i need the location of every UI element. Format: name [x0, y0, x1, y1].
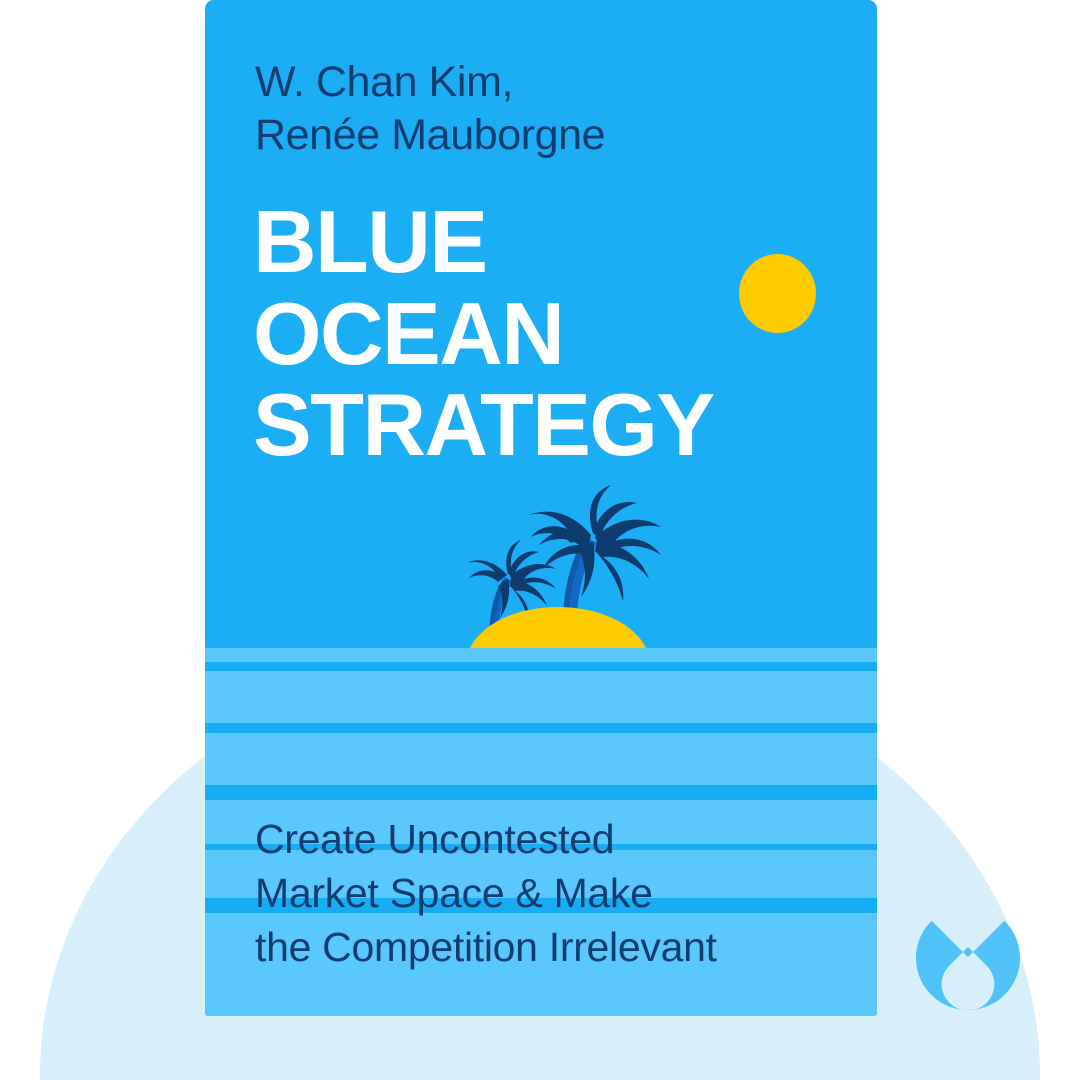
water-stripe [205, 662, 877, 671]
water-stripe [205, 785, 877, 800]
book-card[interactable]: W. Chan Kim, Renée Mauborgne BLUE OCEAN … [205, 0, 877, 1016]
book-title: BLUE OCEAN STRATEGY [253, 196, 873, 471]
author-names: W. Chan Kim, Renée Mauborgne [255, 56, 855, 162]
palm-trees-icon [445, 485, 695, 655]
wave-scallop-edge [205, 648, 877, 660]
water-stripe [205, 723, 877, 733]
book-cover-graphic: W. Chan Kim, Renée Mauborgne BLUE OCEAN … [0, 0, 1080, 1080]
blinkist-logo[interactable] [916, 906, 1020, 1010]
book-subtitle: Create Uncontested Market Space & Make t… [255, 812, 855, 974]
